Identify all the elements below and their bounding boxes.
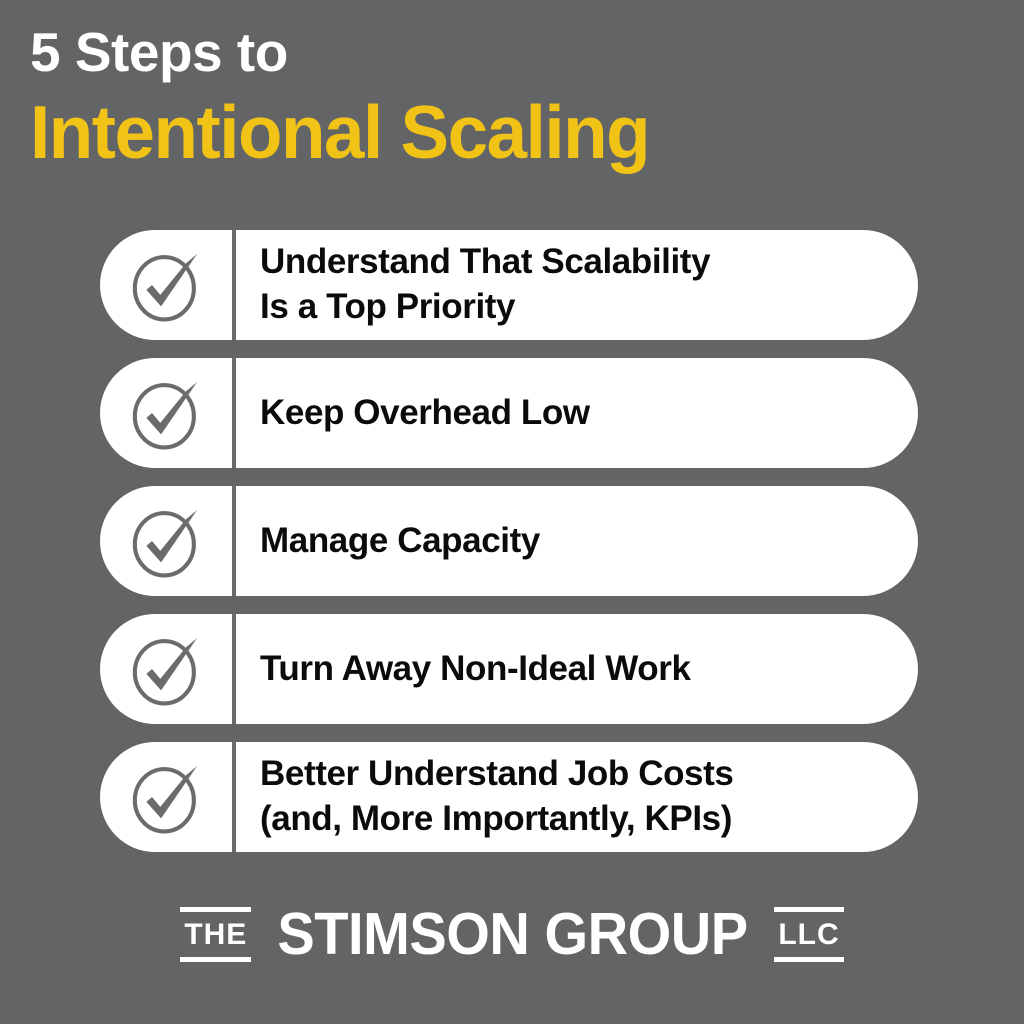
logo-rule-bottom xyxy=(180,957,251,962)
logo-rule-bottom xyxy=(774,957,843,962)
step-text-line: Turn Away Non-Ideal Work xyxy=(260,647,898,692)
infographic-poster: 5 Steps to Intentional Scaling Understan… xyxy=(0,0,1024,1024)
step-text-cell: Keep Overhead Low xyxy=(236,358,918,468)
circle-check-icon xyxy=(125,372,207,454)
step-text-cell: Turn Away Non-Ideal Work xyxy=(236,614,918,724)
circle-check-icon xyxy=(125,500,207,582)
step-text-line: Understand That Scalability xyxy=(260,240,898,285)
circle-check-icon xyxy=(125,756,207,838)
step-text-line: (and, More Importantly, KPIs) xyxy=(260,797,898,842)
step-icon-cell xyxy=(100,486,232,596)
step-row[interactable]: Manage Capacity xyxy=(100,486,918,596)
heading-line-2: Intentional Scaling xyxy=(30,90,961,174)
step-text-line: Manage Capacity xyxy=(260,519,898,564)
step-icon-cell xyxy=(100,358,232,468)
step-icon-cell xyxy=(100,614,232,724)
logo-suffix-text: LLC xyxy=(774,912,843,958)
step-text-cell: Understand That Scalability Is a Top Pri… xyxy=(236,230,918,340)
step-text-line: Better Understand Job Costs xyxy=(260,752,898,797)
heading-line-1: 5 Steps to xyxy=(30,24,990,82)
circle-check-icon xyxy=(125,244,207,326)
step-row[interactable]: Better Understand Job Costs (and, More I… xyxy=(100,742,918,852)
steps-list: Understand That Scalability Is a Top Pri… xyxy=(100,230,918,870)
step-text-line: Keep Overhead Low xyxy=(260,391,898,436)
step-row[interactable]: Understand That Scalability Is a Top Pri… xyxy=(100,230,918,340)
step-icon-cell xyxy=(100,230,232,340)
step-row[interactable]: Keep Overhead Low xyxy=(100,358,918,468)
step-text-line: Is a Top Priority xyxy=(260,285,898,330)
logo-suffix-mark: LLC xyxy=(774,907,843,963)
circle-check-icon xyxy=(125,628,207,710)
logo-prefix-mark: THE xyxy=(180,907,251,963)
logo-name-text: STIMSON GROUP xyxy=(278,905,748,964)
heading-block: 5 Steps to Intentional Scaling xyxy=(30,24,990,174)
logo-prefix-text: THE xyxy=(180,912,251,958)
step-row[interactable]: Turn Away Non-Ideal Work xyxy=(100,614,918,724)
brand-logo: THE STIMSON GROUP LLC xyxy=(0,905,1024,964)
step-text-cell: Better Understand Job Costs (and, More I… xyxy=(236,742,918,852)
step-icon-cell xyxy=(100,742,232,852)
step-text-cell: Manage Capacity xyxy=(236,486,918,596)
